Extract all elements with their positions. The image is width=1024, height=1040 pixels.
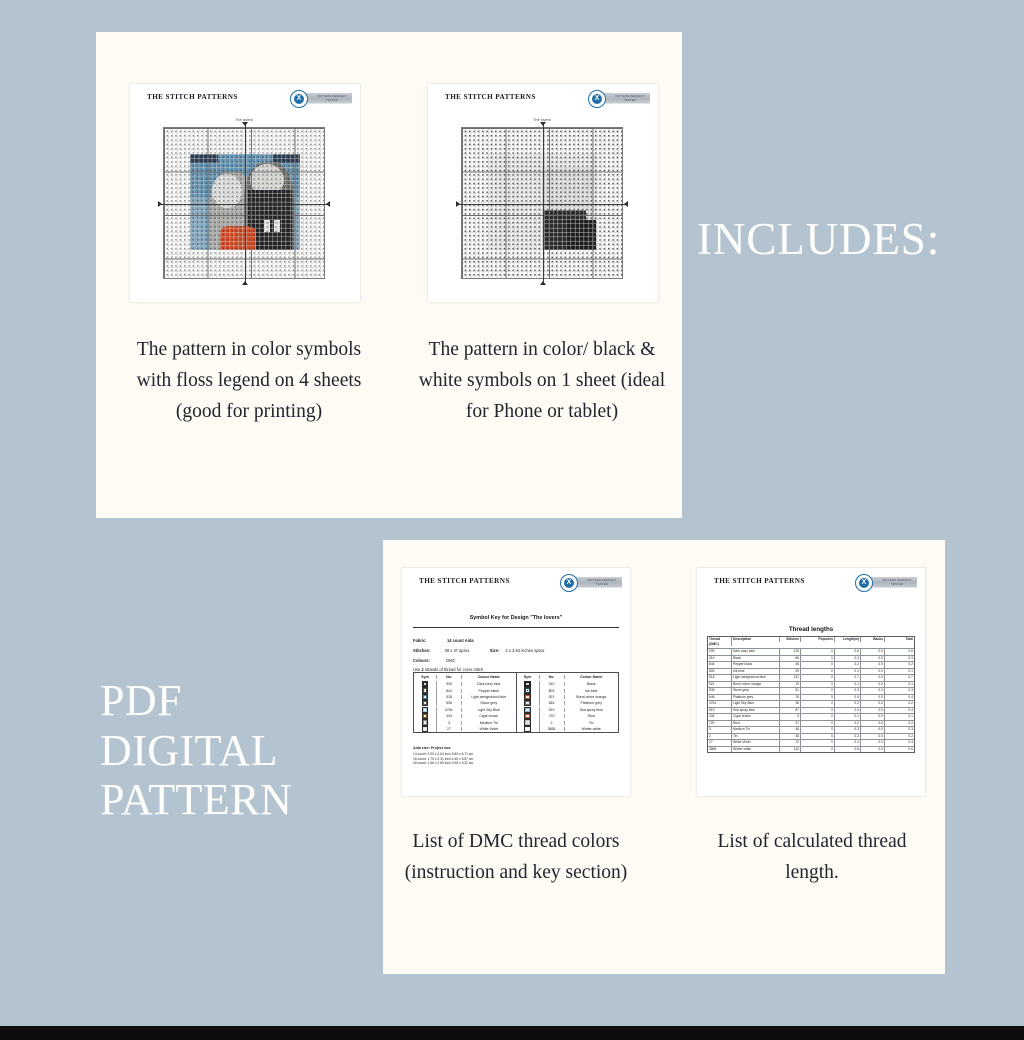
- pattern-tested-badge: PATTERN PERFECT TESTED X: [855, 574, 917, 590]
- chart-center-line-horizontal: [158, 204, 330, 205]
- chart-marker-bottom: [242, 281, 248, 285]
- colour-name: Rust: [565, 714, 619, 718]
- thread-number: 519: [708, 708, 732, 714]
- header-sym: Sym: [414, 675, 437, 679]
- thread-description: White Violet: [732, 740, 780, 746]
- color-swatch-icon: [422, 707, 428, 713]
- chart-marker-right: [624, 201, 628, 207]
- symbol-swatch-cell: [517, 707, 540, 713]
- pequnies: 0: [801, 747, 835, 753]
- badge-disc-icon: X: [290, 90, 308, 108]
- colour-name: Medium Tin: [462, 721, 516, 725]
- color-swatch-icon: [422, 681, 428, 687]
- color-swatch-icon: [422, 700, 428, 706]
- symbol-swatch-cell: [414, 726, 437, 732]
- chart-marker-bottom: [540, 281, 546, 285]
- caption-thread-length: List of calculated thread length.: [692, 826, 932, 888]
- symbol-key-rows-right: 310Black803Ink blue921Burnt ochre orange…: [517, 681, 619, 732]
- stitch-count: 51: [780, 688, 801, 694]
- thread-number: 310: [708, 656, 732, 662]
- thread-number: 518: [708, 675, 732, 681]
- pequnies: 0: [801, 740, 835, 746]
- pattern-sheet-bw-symbols: THE STITCH PATTERNS PATTERN PERFECT TEST…: [428, 84, 658, 302]
- symbol-swatch-cell: [414, 713, 437, 719]
- length-m: 0.2: [835, 701, 861, 707]
- length-m: 0.4: [835, 740, 861, 746]
- table-header-row: Sym No. Colour Name: [414, 673, 516, 681]
- divider: [413, 627, 619, 628]
- color-swatch-icon: [524, 707, 530, 713]
- bw-chart: The lovers: [461, 127, 623, 279]
- stitch-count: 87: [780, 708, 801, 714]
- backs: 0.0: [861, 714, 885, 720]
- aida-size-title-text: Aida size: Project size: [413, 746, 451, 750]
- thread-number: 3865: [708, 747, 732, 753]
- length-m: 0.2: [835, 662, 861, 668]
- length-m: 0.1: [835, 682, 861, 688]
- color-swatch-icon: [524, 700, 530, 706]
- backs: 0.0: [861, 727, 885, 733]
- thread-description: Medium Tin: [732, 727, 780, 733]
- length-m: 0.7: [835, 675, 861, 681]
- stitches-label: Stitches:: [413, 648, 430, 653]
- chart-grid: [461, 127, 623, 279]
- total: 0.1: [885, 714, 914, 720]
- backs: 0.0: [861, 747, 885, 753]
- fabric-value: 14 count Aida: [447, 638, 474, 643]
- pequnies: 0: [801, 649, 835, 655]
- chart-coarse-grid: [164, 128, 324, 278]
- colour-name: Winter white: [565, 727, 619, 731]
- backs: 0.0: [861, 656, 885, 662]
- dmc-number: 310: [540, 682, 565, 686]
- pequnies: 0: [801, 721, 835, 727]
- dmc-number: 3761: [437, 708, 462, 712]
- stitches-value: 28 x 37 aprox: [445, 648, 470, 653]
- chart-marker-right: [326, 201, 330, 207]
- color-swatch-icon: [524, 694, 530, 700]
- header-description: Description: [732, 637, 780, 642]
- pequnies: 0: [801, 669, 835, 675]
- badge-line-2: TESTED: [879, 582, 915, 586]
- thread-number: 720: [708, 721, 732, 727]
- thread-description: Cigar brown: [732, 714, 780, 720]
- pequnies: 0: [801, 682, 835, 688]
- thread-number: 939: [708, 649, 732, 655]
- colour-name: Burnt ochre orange: [565, 695, 619, 699]
- pdf-digital-pattern-heading: PDF DIGITAL PATTERN: [100, 676, 292, 825]
- aida-size-title: Aida size: Project size: [413, 746, 451, 751]
- length-m: 0.3: [835, 727, 861, 733]
- pequnies: 0: [801, 656, 835, 662]
- symbol-swatch-cell: [517, 719, 540, 725]
- pdf-heading-line-1: PDF: [100, 676, 292, 726]
- dmc-number: 434: [437, 714, 462, 718]
- backs: 0.0: [861, 682, 885, 688]
- total: 0.2: [885, 701, 914, 707]
- symbol-swatch-cell: [414, 719, 437, 725]
- caption-color-symbols: The pattern in color symbols with floss …: [120, 334, 378, 427]
- symbol-swatch-cell: [414, 707, 437, 713]
- chart-marker-top: [242, 122, 248, 126]
- badge-ribbon: PATTERN PERFECT TESTED: [303, 93, 352, 104]
- badge-disc-icon: X: [855, 574, 873, 592]
- color-swatch-icon: [524, 687, 530, 693]
- colour-name: Sea spray blue: [565, 708, 619, 712]
- dmc-number: 803: [540, 689, 565, 693]
- total: 0.3: [885, 727, 914, 733]
- total: 0.6: [885, 649, 914, 655]
- thread-number: 27: [708, 740, 732, 746]
- stitch-count: 110: [780, 747, 801, 753]
- badge-line-2: TESTED: [584, 582, 620, 586]
- colours-label: Colours:: [413, 658, 430, 663]
- thread-description: Platinum grey: [732, 695, 780, 701]
- chart-center-line-vertical: [543, 122, 544, 284]
- includes-heading: INCLUDES:: [697, 214, 940, 264]
- symbol-key-title: Symbol Key for Design "The lovers": [402, 615, 630, 621]
- total: 0.6: [885, 747, 914, 753]
- pattern-tested-badge: PATTERN PERFECT TESTED X: [560, 574, 622, 590]
- thread-number: 844: [708, 662, 732, 668]
- symbol-swatch-cell: [414, 687, 437, 693]
- colour-name: Platinum grey: [565, 701, 619, 705]
- header-stitches: Stitches: [780, 637, 801, 642]
- dmc-number: 518: [437, 695, 462, 699]
- thread-number: 646: [708, 695, 732, 701]
- colour-name: Dark navy blue: [462, 682, 516, 686]
- brand-name: THE STITCH PATTERNS: [419, 577, 510, 585]
- table-header-row: Thread (DMC) Description Stitches Pequni…: [708, 637, 914, 649]
- colour-name: Pepper black: [462, 689, 516, 693]
- backs: 0.0: [861, 734, 885, 740]
- symbol-swatch-cell: [517, 713, 540, 719]
- dmc-number: 3865: [540, 727, 565, 731]
- total: 0.4: [885, 708, 914, 714]
- stitches-field: Stitches: 28 x 37 aprox Size: 2 x 2.64 i…: [413, 648, 544, 653]
- badge-ribbon: PATTERN PERFECT TESTED: [868, 577, 917, 588]
- header-no: No.: [437, 675, 462, 679]
- dmc-number: 939: [437, 682, 462, 686]
- dmc-number: 27: [437, 727, 462, 731]
- thread-description: Ink blue: [732, 669, 780, 675]
- chart-marker-left: [158, 201, 162, 207]
- symbol-swatch-cell: [517, 726, 540, 732]
- badge-ribbon-text: PATTERN PERFECT TESTED: [314, 94, 350, 103]
- thread-number: 434: [708, 714, 732, 720]
- total: 0.2: [885, 734, 914, 740]
- dmc-number: 646: [540, 701, 565, 705]
- colour-name: Light wedgewood blue: [462, 695, 516, 699]
- thread-number: 803: [708, 669, 732, 675]
- thread-description: Tin: [732, 734, 780, 740]
- backs: 0.0: [861, 695, 885, 701]
- total: 0.1: [885, 669, 914, 675]
- colour-name: Ink blue: [565, 689, 619, 693]
- aida-size-lines: 14 count: 2.00 x 2.64 inch 5.80 x 6.71 c…: [413, 752, 473, 766]
- pequnies: 0: [801, 688, 835, 694]
- pequnies: 0: [801, 708, 835, 714]
- stitch-count: 38: [780, 701, 801, 707]
- length-m: 0.2: [835, 721, 861, 727]
- thread-number: 3: [708, 727, 732, 733]
- symbol-key-row: 3865Winter white: [517, 726, 619, 732]
- header-thread: Thread (DMC): [708, 637, 732, 646]
- symbol-swatch-cell: [414, 681, 437, 687]
- dmc-number: 844: [437, 689, 462, 693]
- header-length: Length(m): [835, 637, 861, 642]
- badge-ribbon-text: PATTERN PERFECT TESTED: [584, 578, 620, 587]
- stitch-count: 46: [780, 662, 801, 668]
- color-swatch-icon: [524, 719, 530, 725]
- table-header-row: Sym No. Colour Name: [517, 673, 619, 681]
- thread-lengths-table: Thread (DMC) Description Stitches Pequni…: [707, 636, 915, 753]
- length-m: 0.3: [835, 688, 861, 694]
- color-swatch-icon: [524, 726, 530, 732]
- header-sym: Sym: [517, 675, 540, 679]
- header-total: Total: [885, 637, 914, 642]
- aida-line-18: 18 count: 1.56 x 2.80 inch 3.95 x 5.22 c…: [413, 761, 473, 766]
- badge-ribbon-text: PATTERN PERFECT TESTED: [612, 94, 648, 103]
- pequnies: 0: [801, 695, 835, 701]
- dmc-number: 3: [437, 721, 462, 725]
- colours-field: Colours: DMC: [413, 658, 455, 663]
- chart-grid: [163, 127, 325, 279]
- badge-x-mark: X: [564, 578, 574, 588]
- color-swatch-icon: [422, 687, 428, 693]
- backs: 0.0: [861, 669, 885, 675]
- symbol-swatch-cell: [414, 694, 437, 700]
- badge-x-mark: X: [592, 94, 602, 104]
- chart-coarse-grid: [462, 128, 622, 278]
- colour-name: Stone grey: [462, 701, 516, 705]
- stitch-count: 29: [780, 669, 801, 675]
- badge-line-2: TESTED: [314, 98, 350, 102]
- sheet-header: THE STITCH PATTERNS PATTERN PERFECT TEST…: [428, 84, 658, 110]
- thread-description: Stone grey: [732, 688, 780, 694]
- fabric-label: Fabric:: [413, 638, 427, 643]
- color-swatch-icon: [422, 694, 428, 700]
- thread-description: Light Sky Blue: [732, 701, 780, 707]
- length-m: 0.6: [835, 649, 861, 655]
- length-m: 0.1: [835, 669, 861, 675]
- total: 0.3: [885, 656, 914, 662]
- pattern-sheet-color-symbols: THE STITCH PATTERNS PATTERN PERFECT TEST…: [130, 84, 360, 302]
- symbol-swatch-cell: [517, 687, 540, 693]
- length-m: 0.3: [835, 656, 861, 662]
- thread-description: Black: [732, 656, 780, 662]
- symbol-key-column-left: Sym No. Colour Name 939Dark navy blue844…: [414, 673, 517, 732]
- length-m: 0.4: [835, 708, 861, 714]
- total: 0.3: [885, 688, 914, 694]
- thread-lengths-rows: 939Dark navy blue12500.60.00.6310Black66…: [708, 649, 914, 752]
- brand-name: THE STITCH PATTERNS: [147, 93, 238, 101]
- colour-name: Tin: [565, 721, 619, 725]
- pdf-heading-line-2: DIGITAL: [100, 726, 292, 776]
- total: 0.4: [885, 740, 914, 746]
- length-m: 0.4: [835, 695, 861, 701]
- symbol-swatch-cell: [414, 700, 437, 706]
- colours-value: DMC: [446, 658, 455, 663]
- thread-description: Light wedgewood blue: [732, 675, 780, 681]
- backs: 0.0: [861, 701, 885, 707]
- color-swatch-icon: [422, 713, 428, 719]
- stitch-count: 9: [780, 714, 801, 720]
- thread-number: 2: [708, 734, 732, 740]
- bottom-bar: [0, 1026, 1024, 1040]
- header-colour-name: Colour Name: [462, 675, 516, 679]
- thread-description: Rust: [732, 721, 780, 727]
- color-swatch-icon: [524, 713, 530, 719]
- backs: 0.0: [861, 708, 885, 714]
- table-row: 3865Winter white11000.60.00.6: [708, 747, 914, 753]
- symbol-swatch-cell: [517, 694, 540, 700]
- chart-center-line-horizontal: [456, 204, 628, 205]
- badge-line-2: TESTED: [612, 98, 648, 102]
- pequnies: 0: [801, 675, 835, 681]
- sheet-header: THE STITCH PATTERNS PATTERN PERFECT TEST…: [402, 568, 630, 594]
- thread-number: 3761: [708, 701, 732, 707]
- header-colour-name: Colour Name: [565, 675, 619, 679]
- brand-name: THE STITCH PATTERNS: [445, 93, 536, 101]
- dmc-number: 2: [540, 721, 565, 725]
- chart-marker-top: [540, 122, 546, 126]
- backs: 0.0: [861, 688, 885, 694]
- color-swatch-icon: [422, 719, 428, 725]
- color-swatch-icon: [524, 681, 530, 687]
- backs: 0.0: [861, 675, 885, 681]
- thread-number: 921: [708, 682, 732, 688]
- caption-bw-symbols: The pattern in color/ black & white symb…: [413, 334, 671, 427]
- thread-description: Dark navy blue: [732, 649, 780, 655]
- symbol-key-sheet: THE STITCH PATTERNS PATTERN PERFECT TEST…: [402, 568, 630, 796]
- pattern-tested-badge: PATTERN PERFECT TESTED X: [588, 90, 650, 106]
- stitch-count: 19: [780, 682, 801, 688]
- caption-dmc-list: List of DMC thread colors (instruction a…: [398, 826, 634, 888]
- chart-center-line-vertical: [245, 122, 246, 284]
- aida-line-14: 14 count: 2.00 x 2.64 inch 5.80 x 6.71 c…: [413, 752, 473, 757]
- colour-name: Cigar brown: [462, 714, 516, 718]
- thread-description: Burnt ochre orange: [732, 682, 780, 688]
- total: 0.7: [885, 675, 914, 681]
- symbol-swatch-cell: [517, 681, 540, 687]
- color-swatch-icon: [422, 726, 428, 732]
- total: 0.2: [885, 721, 914, 727]
- pequnies: 0: [801, 701, 835, 707]
- length-m: 0.1: [835, 714, 861, 720]
- stitch-count: 72: [780, 740, 801, 746]
- pequnies: 0: [801, 662, 835, 668]
- pequnies: 0: [801, 714, 835, 720]
- stitch-count: 125: [780, 649, 801, 655]
- thread-description: Pepper black: [732, 662, 780, 668]
- length-m: 0.2: [835, 734, 861, 740]
- dmc-number: 720: [540, 714, 565, 718]
- pdf-heading-line-3: PATTERN: [100, 775, 292, 825]
- chart-marker-left: [456, 201, 460, 207]
- thread-lengths-title: Thread lengths: [697, 626, 925, 633]
- listing-graphic: INCLUDES: PDF DIGITAL PATTERN THE STITCH…: [0, 0, 1024, 1040]
- badge-x-mark: X: [859, 578, 869, 588]
- total: 0.4: [885, 695, 914, 701]
- stitch-count: 66: [780, 656, 801, 662]
- dmc-number: 519: [540, 708, 565, 712]
- dmc-number: 535: [437, 701, 462, 705]
- thread-lengths-sheet: THE STITCH PATTERNS PATTERN PERFECT TEST…: [697, 568, 925, 796]
- dmc-number: 921: [540, 695, 565, 699]
- size-value: 2 x 2.64 inches aprox: [506, 648, 545, 653]
- symbol-key-row: 27White Violet: [414, 726, 516, 732]
- thread-description: Winter white: [732, 747, 780, 753]
- size-label: Size:: [490, 648, 500, 653]
- stitch-count: 37: [780, 721, 801, 727]
- total: 0.1: [885, 682, 914, 688]
- symbol-key-table: Sym No. Colour Name 939Dark navy blue844…: [413, 672, 619, 733]
- backs: 0.0: [861, 662, 885, 668]
- symbol-key-rows-left: 939Dark navy blue844Pepper black518Light…: [414, 681, 516, 732]
- color-chart: The lovers: [163, 127, 325, 279]
- badge-ribbon-text: PATTERN PERFECT TESTED: [879, 578, 915, 587]
- pequnies: 0: [801, 734, 835, 740]
- badge-ribbon: PATTERN PERFECT TESTED: [573, 577, 622, 588]
- symbol-key-column-right: Sym No. Colour Name 310Black803Ink blue9…: [517, 673, 619, 732]
- length-m: 0.6: [835, 747, 861, 753]
- colour-name: Light Sky Blue: [462, 708, 516, 712]
- backs: 0.0: [861, 740, 885, 746]
- thread-description: Sea spray blue: [732, 708, 780, 714]
- fabric-field: Fabric: 14 count Aida: [413, 638, 474, 643]
- total: 0.2: [885, 662, 914, 668]
- backs: 0.0: [861, 721, 885, 727]
- stitch-count: 131: [780, 675, 801, 681]
- header-backs: Backs: [861, 637, 885, 642]
- badge-disc-icon: X: [588, 90, 606, 108]
- stitch-count: 48: [780, 727, 801, 733]
- stitch-count: 36: [780, 734, 801, 740]
- brand-name: THE STITCH PATTERNS: [714, 577, 805, 585]
- pattern-tested-badge: PATTERN PERFECT TESTED X: [290, 90, 352, 106]
- header-no: No.: [540, 675, 565, 679]
- backs: 0.0: [861, 649, 885, 655]
- header-pequnies: Pequnies: [801, 637, 835, 642]
- stitch-count: 76: [780, 695, 801, 701]
- colour-name: Black: [565, 682, 619, 686]
- sheet-header: THE STITCH PATTERNS PATTERN PERFECT TEST…: [697, 568, 925, 594]
- colour-name: White Violet: [462, 727, 516, 731]
- badge-x-mark: X: [294, 94, 304, 104]
- pequnies: 0: [801, 727, 835, 733]
- thread-number: 535: [708, 688, 732, 694]
- badge-ribbon: PATTERN PERFECT TESTED: [601, 93, 650, 104]
- symbol-swatch-cell: [517, 700, 540, 706]
- badge-disc-icon: X: [560, 574, 578, 592]
- sheet-header: THE STITCH PATTERNS PATTERN PERFECT TEST…: [130, 84, 360, 110]
